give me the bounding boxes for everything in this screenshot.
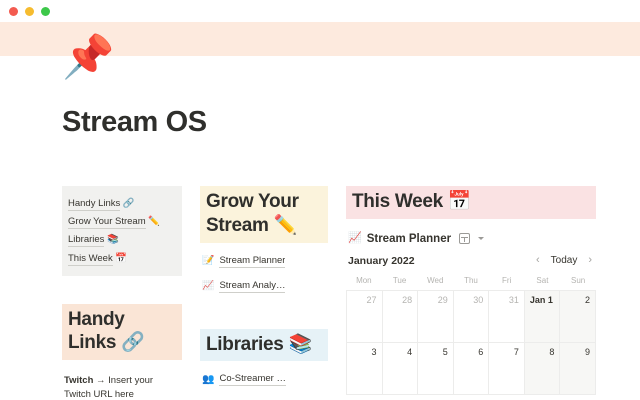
calendar-day-number: 7 <box>514 347 519 357</box>
column-list: Handy Links 🔗 Grow Your Stream ✏️ Librar… <box>62 186 596 400</box>
page-link-co-streamer[interactable]: 👥 Co-Streamer … <box>200 373 328 386</box>
calendar-day-number: 4 <box>407 347 412 357</box>
next-month-button[interactable]: › <box>588 255 592 266</box>
calendar-grid: 2728293031Jan 123456789 <box>346 291 596 395</box>
toc-item-label: Grow Your Stream <box>68 216 146 229</box>
database-title[interactable]: Stream Planner <box>367 233 451 245</box>
calendar-day-cell[interactable]: 9 <box>560 343 596 395</box>
day-name-tue: Tue <box>382 276 418 290</box>
arrow-glyph: → <box>96 375 106 386</box>
calendar-day-number: 8 <box>549 347 554 357</box>
busts-in-silhouette-icon: 👥 <box>202 375 214 385</box>
calendar-day-cell[interactable]: 7 <box>489 343 525 395</box>
books-icon: 📚 <box>107 234 119 245</box>
page-link-stream-planner[interactable]: 📝 Stream Planner <box>200 255 328 268</box>
window-title-bar <box>0 0 640 22</box>
calendar-day-number: 5 <box>443 347 448 357</box>
calendar-month-label: January 2022 <box>348 255 415 267</box>
previous-month-button[interactable]: ‹ <box>536 255 540 266</box>
calendar-day-number: 27 <box>367 295 377 305</box>
toc-item-label: Libraries <box>68 234 104 247</box>
chevron-down-icon[interactable] <box>478 237 484 240</box>
calendar-day-number: 29 <box>438 295 448 305</box>
close-window-button[interactable] <box>9 7 18 16</box>
column-middle: Grow Your Stream ✏️ 📝 Stream Planner 📈 S… <box>200 186 328 386</box>
column-right: This Week 📅 📈 Stream Planner January 202… <box>346 186 596 395</box>
page-link-stream-analytics[interactable]: 📈 Stream Analy… <box>200 280 328 293</box>
twitch-label: Twitch <box>64 375 93 386</box>
column-left: Handy Links 🔗 Grow Your Stream ✏️ Librar… <box>62 186 182 400</box>
handy-links-paragraph: Twitch → Insert your Twitch URL here <box>62 374 182 400</box>
calendar-icon: 📅 <box>115 253 127 264</box>
toc-item-grow-your-stream[interactable]: Grow Your Stream ✏️ <box>68 212 176 230</box>
calendar-day-cell[interactable]: 4 <box>383 343 419 395</box>
calendar-day-cell[interactable]: 27 <box>347 291 383 343</box>
page-link-label: Stream Analy… <box>219 280 285 293</box>
calendar-toolbar: January 2022 ‹ Today › <box>346 255 596 267</box>
toc-item-label: This Week <box>68 253 113 266</box>
calendar-day-cell[interactable]: 8 <box>525 343 561 395</box>
calendar-day-cell[interactable]: 28 <box>383 291 419 343</box>
maximize-window-button[interactable] <box>41 7 50 16</box>
heading-handy-links: Handy Links 🔗 <box>62 304 182 361</box>
toc-item-label: Handy Links <box>68 198 120 211</box>
calendar-day-number: 31 <box>509 295 519 305</box>
page-cover-banner: 📌 <box>0 22 640 56</box>
day-name-sat: Sat <box>525 276 561 290</box>
pushpin-icon[interactable]: 📌 <box>62 36 114 78</box>
calendar-day-number: 6 <box>478 347 483 357</box>
calendar-day-number: 3 <box>372 347 377 357</box>
page-content: Stream OS Handy Links 🔗 Grow Your Stream… <box>0 106 640 400</box>
calendar-day-cell[interactable]: 6 <box>454 343 490 395</box>
day-name-wed: Wed <box>417 276 453 290</box>
memo-icon: 📝 <box>202 256 214 266</box>
heading-this-week-label: This Week <box>352 191 443 212</box>
calendar-day-cell[interactable]: 3 <box>347 343 383 395</box>
day-name-mon: Mon <box>346 276 382 290</box>
link-icon: 🔗 <box>121 332 144 353</box>
calendar-day-number: 2 <box>585 295 590 305</box>
page-title: Stream OS <box>62 106 596 139</box>
page-link-label: Stream Planner <box>219 255 285 268</box>
day-name-thu: Thu <box>453 276 489 290</box>
calendar-day-number: 9 <box>585 347 590 357</box>
calendar-day-cell[interactable]: 29 <box>418 291 454 343</box>
inline-database-stream-planner: 📈 Stream Planner January 2022 ‹ Today › … <box>346 233 596 395</box>
chart-increasing-icon: 📈 <box>202 281 214 291</box>
day-name-sun: Sun <box>560 276 596 290</box>
calendar-day-number: 30 <box>473 295 483 305</box>
database-title-row: 📈 Stream Planner <box>346 233 596 245</box>
calendar-icon: 📅 <box>448 191 471 212</box>
toc-item-libraries[interactable]: Libraries 📚 <box>68 231 176 249</box>
minimize-window-button[interactable] <box>25 7 34 16</box>
calendar-day-cell[interactable]: 30 <box>454 291 490 343</box>
calendar-day-names: Mon Tue Wed Thu Fri Sat Sun <box>346 276 596 291</box>
calendar-nav: ‹ Today › <box>536 255 592 266</box>
day-name-fri: Fri <box>489 276 525 290</box>
heading-this-week: This Week 📅 <box>346 186 596 219</box>
books-icon: 📚 <box>289 334 312 355</box>
heading-handy-links-label: Handy Links <box>68 309 125 354</box>
calendar-day-cell[interactable]: 31 <box>489 291 525 343</box>
toc-item-this-week[interactable]: This Week 📅 <box>68 249 176 267</box>
page-link-label: Co-Streamer … <box>219 373 286 386</box>
table-of-contents: Handy Links 🔗 Grow Your Stream ✏️ Librar… <box>62 186 182 276</box>
calendar-view-icon[interactable] <box>459 233 470 244</box>
calendar-day-cell[interactable]: Jan 1 <box>525 291 561 343</box>
heading-libraries-label: Libraries <box>206 334 284 355</box>
toc-item-handy-links[interactable]: Handy Links 🔗 <box>68 194 176 212</box>
link-icon: 🔗 <box>123 198 135 209</box>
pencil-icon: ✏️ <box>148 216 160 227</box>
calendar-day-cell[interactable]: 5 <box>418 343 454 395</box>
chart-increasing-icon: 📈 <box>348 233 362 244</box>
today-button[interactable]: Today <box>551 255 578 266</box>
pencil-icon: ✏️ <box>274 215 297 236</box>
calendar-day-number: Jan 1 <box>530 295 553 305</box>
calendar-day-cell[interactable]: 2 <box>560 291 596 343</box>
heading-grow-your-stream: Grow Your Stream ✏️ <box>200 186 328 243</box>
calendar-day-number: 28 <box>402 295 412 305</box>
heading-libraries: Libraries 📚 <box>200 329 328 362</box>
